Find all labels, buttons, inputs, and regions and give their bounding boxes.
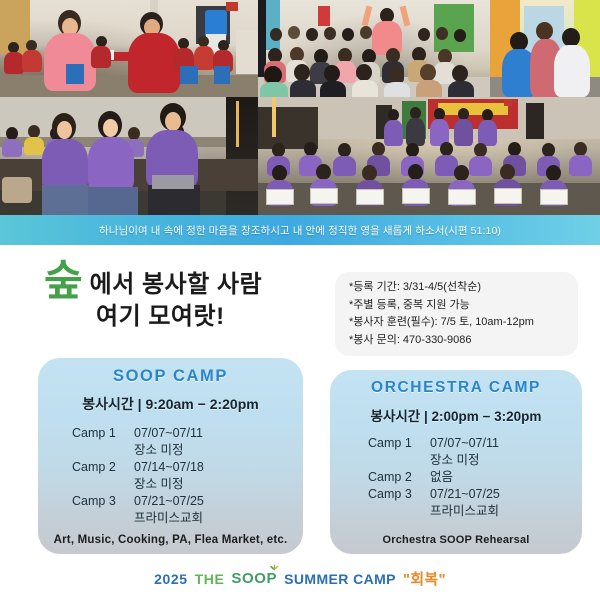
camp-label: Camp 2 <box>368 469 430 486</box>
camp-location: 프라미스교회 <box>368 503 582 520</box>
camp-dates: 07/07~07/11 <box>134 425 203 442</box>
camp-dates: 07/07~07/11 <box>430 435 499 452</box>
headline: 숲 에서 봉사할 사람 여기 모여랏! <box>44 262 334 332</box>
brand-summer-camp: SUMMER CAMP <box>284 571 396 587</box>
schedule-row: Camp 3 07/21~07/25 <box>72 493 303 510</box>
bible-verse-text: 하나님이여 내 속에 정한 마음을 창조하시고 내 안에 정직한 영을 새롭게 … <box>99 223 501 238</box>
soop-logo-glyph: 숲 <box>44 262 82 300</box>
note-item: *주별 등록, 중복 지원 가능 <box>349 297 566 315</box>
photo-three-students <box>490 0 600 97</box>
orchestra-camp-schedule: Camp 1 07/07~07/11 장소 미정 Camp 2 없음 Camp … <box>330 435 582 520</box>
soop-camp-hours: 봉사시간 | 9:20am − 2:20pm <box>38 394 303 414</box>
brand-year: 2025 <box>154 571 188 587</box>
photo-group-cheer <box>258 0 490 97</box>
brand-soop: SOOP <box>231 570 277 587</box>
photo-certificate-group <box>258 97 600 215</box>
photo-collage <box>0 0 600 215</box>
note-item: *봉사자 훈련(필수): 7/5 토, 10am-12pm <box>349 314 566 332</box>
headline-line-1: 에서 봉사할 사람 <box>90 270 262 300</box>
soop-camp-card: SOOP CAMP 봉사시간 | 9:20am − 2:20pm Camp 1 … <box>38 358 303 554</box>
camp-label: Camp 1 <box>72 425 134 442</box>
registration-notes-box: *등록 기간: 3/31-4/5(선착순) *주별 등록, 중복 지원 가능 *… <box>335 272 578 356</box>
camp-label: Camp 1 <box>368 435 430 452</box>
orchestra-camp-activities: Orchestra SOOP Rehearsal <box>330 534 582 546</box>
orchestra-camp-title: ORCHESTRA CAMP <box>330 379 582 397</box>
camp-label: Camp 3 <box>72 493 134 510</box>
schedule-row: Camp 1 07/07~07/11 <box>368 435 582 452</box>
camp-dates: 07/21~07/25 <box>430 486 500 503</box>
camp-location: 프라미스교회 <box>72 510 303 527</box>
headline-line-2: 여기 모여랏! <box>96 302 334 332</box>
soop-camp-schedule: Camp 1 07/07~07/11 장소 미정 Camp 2 07/14~07… <box>38 425 303 527</box>
brand-the: THE <box>195 571 225 587</box>
camp-label: Camp 3 <box>368 486 430 503</box>
schedule-row: Camp 1 07/07~07/11 <box>72 425 303 442</box>
orchestra-camp-card: ORCHESTRA CAMP 봉사시간 | 2:00pm − 3:20pm Ca… <box>330 370 582 554</box>
camp-location: 장소 미정 <box>72 476 303 493</box>
brand-theme-word: "회복" <box>403 568 446 589</box>
note-item: *등록 기간: 3/31-4/5(선착순) <box>349 279 566 297</box>
camp-dates: 07/14~07/18 <box>134 459 204 476</box>
camp-dates: 07/21~07/25 <box>134 493 204 510</box>
soop-camp-title: SOOP CAMP <box>38 367 303 386</box>
brand-soop-text: SOOP <box>231 570 277 587</box>
soop-camp-activities: Art, Music, Cooking, PA, Flea Market, et… <box>38 534 303 546</box>
orchestra-camp-hours: 봉사시간 | 2:00pm − 3:20pm <box>330 405 582 425</box>
schedule-row: Camp 3 07/21~07/25 <box>368 486 582 503</box>
camp-location: 장소 미정 <box>72 442 303 459</box>
schedule-row: Camp 2 없음 <box>368 469 582 486</box>
bible-verse-banner: 하나님이여 내 속에 정한 마음을 창조하시고 내 안에 정직한 영을 새롭게 … <box>0 215 600 245</box>
bottom-brand-bar: 2025 THE SOOP SUMMER CAMP "회복" <box>0 568 600 589</box>
photo-certificate-handoff <box>0 0 258 97</box>
note-item: *봉사 문의: 470-330-9086 <box>349 332 566 350</box>
poster-root: 하나님이여 내 속에 정한 마음을 창조하시고 내 안에 정직한 영을 새롭게 … <box>0 0 600 600</box>
camp-dates: 없음 <box>430 469 453 486</box>
camp-label: Camp 2 <box>72 459 134 476</box>
leaf-icon <box>269 563 280 572</box>
camp-location: 장소 미정 <box>368 452 582 469</box>
photo-purple-shirt-students <box>0 97 258 215</box>
schedule-row: Camp 2 07/14~07/18 <box>72 459 303 476</box>
